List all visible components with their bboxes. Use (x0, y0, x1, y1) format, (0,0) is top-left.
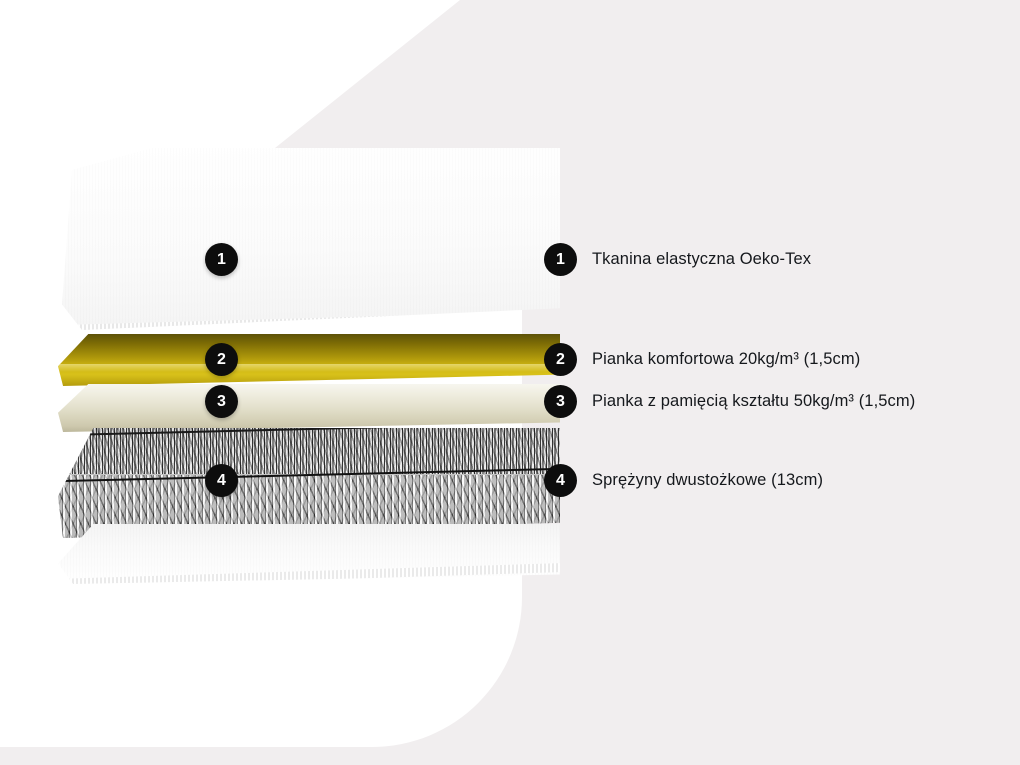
legend-badge-3: 3 (544, 385, 577, 418)
layer-legend: 1 Tkanina elastyczna Oeko-Tex 2 Pianka k… (540, 0, 1020, 765)
stack-badge-1: 1 (205, 243, 238, 276)
stack-badge-2: 2 (205, 343, 238, 376)
layer-4-spring-core (58, 428, 560, 538)
foam-highlight (58, 364, 560, 372)
layer-1-fabric-cover (62, 148, 560, 330)
legend-label-4: Sprężyny dwustożkowe (13cm) (592, 471, 823, 490)
spring-row-upper (58, 428, 560, 474)
legend-label-2: Pianka komfortowa 20kg/m³ (1,5cm) (592, 350, 860, 369)
legend-label-3: Pianka z pamięcią kształtu 50kg/m³ (1,5c… (592, 392, 915, 411)
legend-badge-1: 1 (544, 243, 577, 276)
stack-badge-4: 4 (205, 464, 238, 497)
legend-item-3: 3 Pianka z pamięcią kształtu 50kg/m³ (1,… (544, 385, 915, 418)
legend-label-1: Tkanina elastyczna Oeko-Tex (592, 250, 811, 269)
base-weave-texture (58, 524, 560, 584)
legend-item-4: 4 Sprężyny dwustożkowe (13cm) (544, 464, 823, 497)
layer-3-memory-foam (58, 384, 560, 432)
layer-2-comfort-foam (58, 334, 560, 386)
layer-bottom-base-cover (58, 524, 560, 584)
mattress-layer-diagram: 1 2 3 4 1 Tkanina elastyczna Oeko-Tex 2 … (0, 0, 1020, 765)
legend-badge-2: 2 (544, 343, 577, 376)
legend-item-1: 1 Tkanina elastyczna Oeko-Tex (544, 243, 811, 276)
mattress-stack-illustration: 1 2 3 4 (0, 0, 560, 620)
stack-badge-3: 3 (205, 385, 238, 418)
legend-badge-4: 4 (544, 464, 577, 497)
fabric-weave-texture (62, 148, 560, 330)
legend-item-2: 2 Pianka komfortowa 20kg/m³ (1,5cm) (544, 343, 860, 376)
